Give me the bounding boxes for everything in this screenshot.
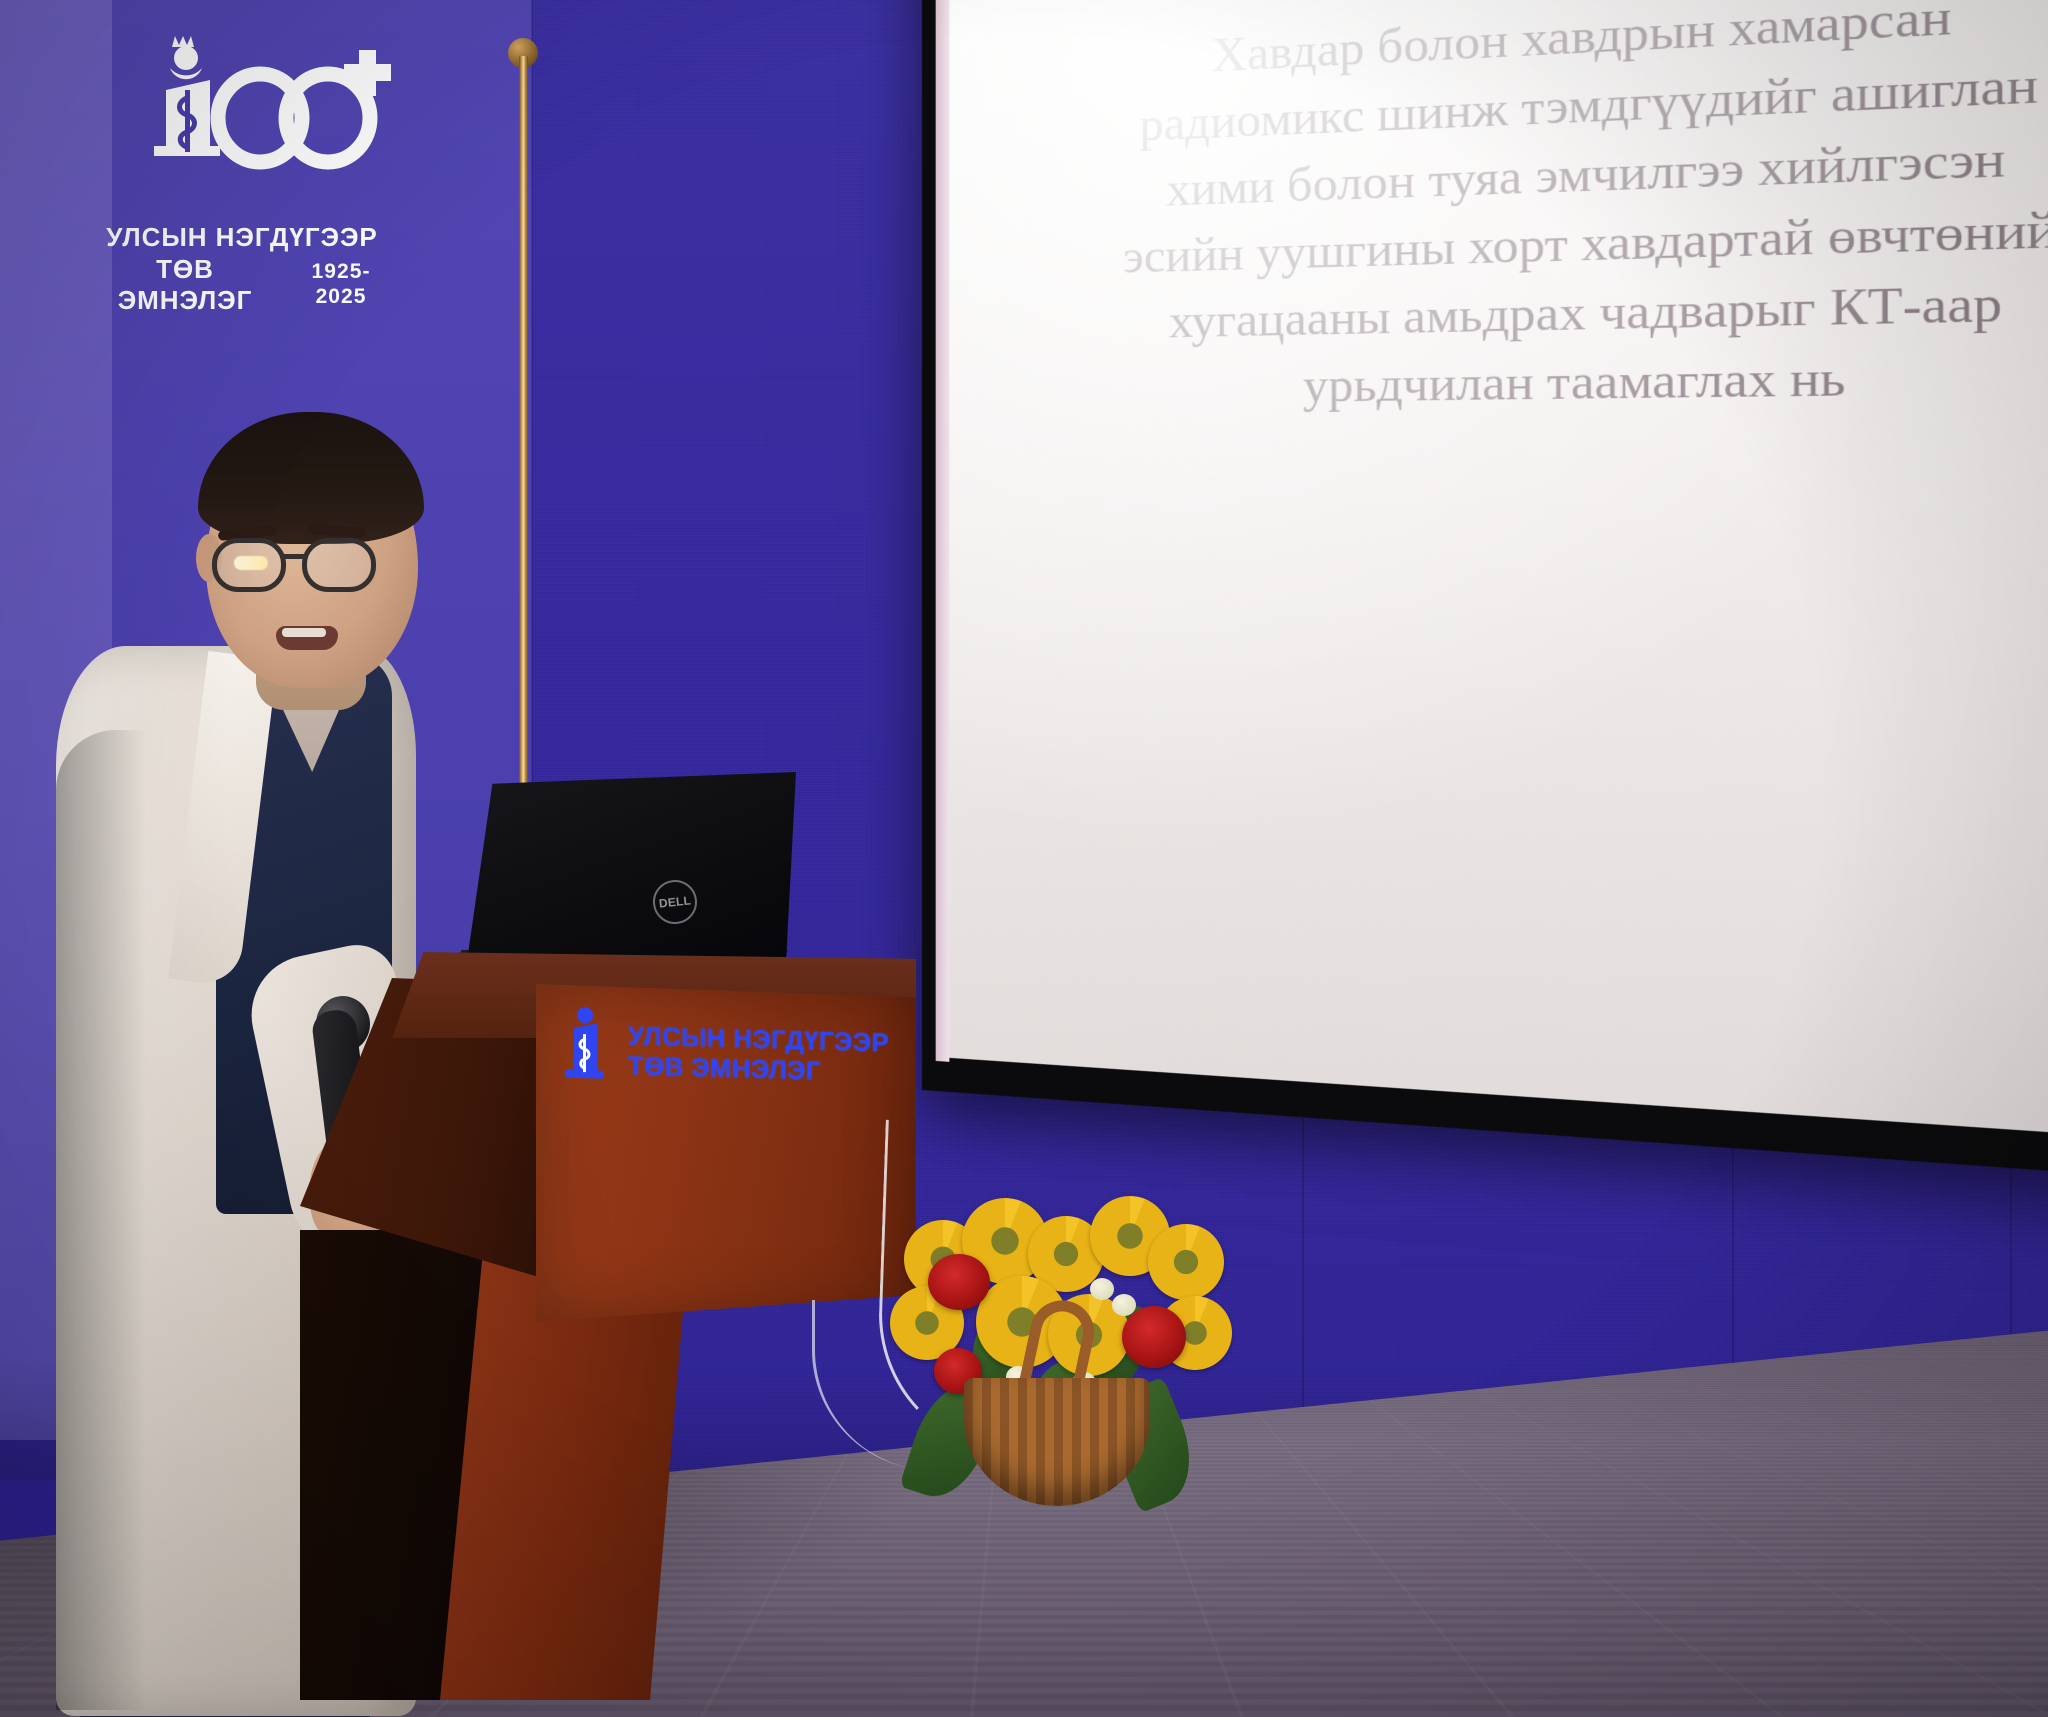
yellow-flower bbox=[1148, 1224, 1224, 1300]
logo-line-1: УЛСЫН НЭГДҮГЭЭР bbox=[92, 222, 392, 254]
slide-body: Хавдар болон хавдрын хамарсан радиомикс … bbox=[989, 0, 2048, 423]
flower-basket bbox=[876, 1190, 1236, 1520]
podium-logo-text: УЛСЫН НЭГДҮГЭЭР ТӨВ ЭМНЭЛЭГ bbox=[628, 1020, 889, 1088]
podium-logo-mark bbox=[556, 1005, 614, 1093]
wicker-basket bbox=[964, 1378, 1150, 1506]
presenter-teeth bbox=[282, 628, 326, 637]
white-filler-flower bbox=[1090, 1278, 1114, 1300]
projection-screen: Судалгааны зорилго Хавдар болон хавдрын … bbox=[922, 0, 2048, 1188]
coat-shading bbox=[56, 730, 146, 1710]
red-rose bbox=[1122, 1306, 1186, 1368]
white-filler-flower bbox=[1112, 1294, 1136, 1316]
asclepius-pillar-icon bbox=[154, 80, 220, 156]
soyombo-icon bbox=[170, 36, 202, 79]
screen-surface: Судалгааны зорилго Хавдар болон хавдрын … bbox=[949, 0, 2048, 1147]
logo-mark bbox=[92, 28, 392, 218]
screen-left-edge bbox=[936, 0, 950, 1062]
hospital-centennial-logo: УЛСЫН НЭГДҮГЭЭР ТӨВ ЭМНЭЛЭГ 1925-2025 bbox=[92, 28, 422, 308]
presenter-laptop bbox=[466, 772, 796, 968]
logo-years: 1925-2025 bbox=[290, 259, 392, 310]
presentation-photo-stage: УЛСЫН НЭГДҮГЭЭР ТӨВ ЭМНЭЛЭГ 1925-2025 Су… bbox=[0, 0, 2048, 1717]
eyeglasses-glare bbox=[234, 556, 268, 570]
soyombo-icon bbox=[577, 1007, 593, 1023]
podium-logo: УЛСЫН НЭГДҮГЭЭР ТӨВ ЭМНЭЛЭГ bbox=[556, 1005, 889, 1100]
eyeglasses-bridge bbox=[284, 554, 306, 559]
logo-line-2: ТӨВ ЭМНЭЛЭГ bbox=[92, 254, 278, 317]
red-rose bbox=[928, 1254, 990, 1310]
logo-caption: УЛСЫН НЭГДҮГЭЭР ТӨВ ЭМНЭЛЭГ 1925-2025 bbox=[92, 222, 392, 317]
eyeglasses-right-lens bbox=[302, 538, 376, 592]
